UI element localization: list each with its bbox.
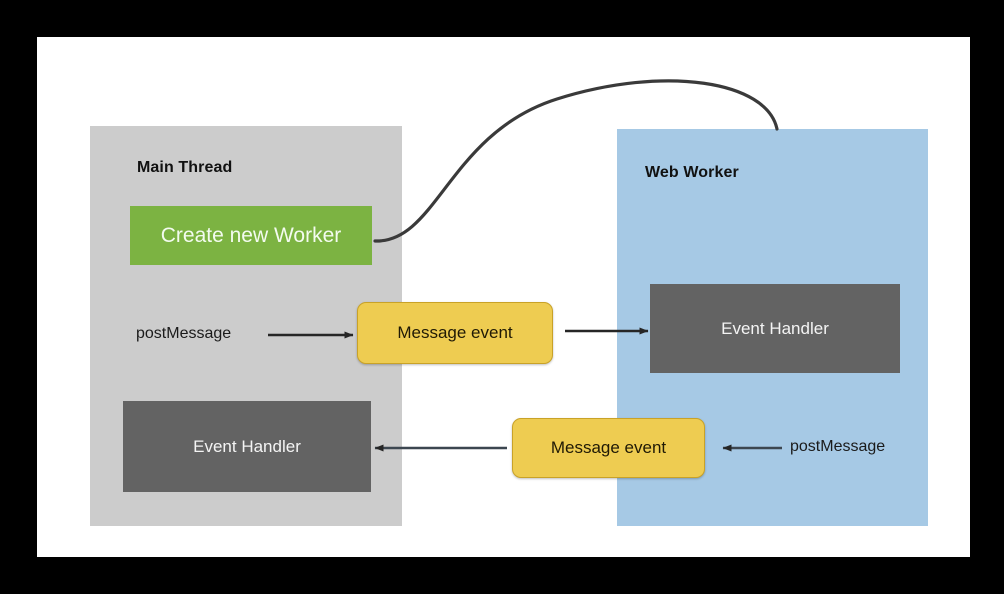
node-event-handler-main[interactable]: Event Handler — [123, 401, 371, 492]
node-event-handler-worker[interactable]: Event Handler — [650, 284, 900, 373]
edge-label-post-message-worker: postMessage — [790, 438, 885, 456]
diagram-canvas: Main Thread Web Worker Create ne — [37, 37, 970, 557]
node-create-new-worker[interactable]: Create new Worker — [130, 206, 372, 265]
panel-title-web-worker: Web Worker — [645, 164, 739, 182]
node-message-event-bottom[interactable]: Message event — [512, 418, 705, 478]
edge-label-post-message-main: postMessage — [136, 325, 231, 343]
panel-title-main-thread: Main Thread — [137, 159, 232, 177]
node-message-event-top[interactable]: Message event — [357, 302, 553, 364]
image-frame: Main Thread Web Worker Create ne — [0, 0, 1004, 594]
